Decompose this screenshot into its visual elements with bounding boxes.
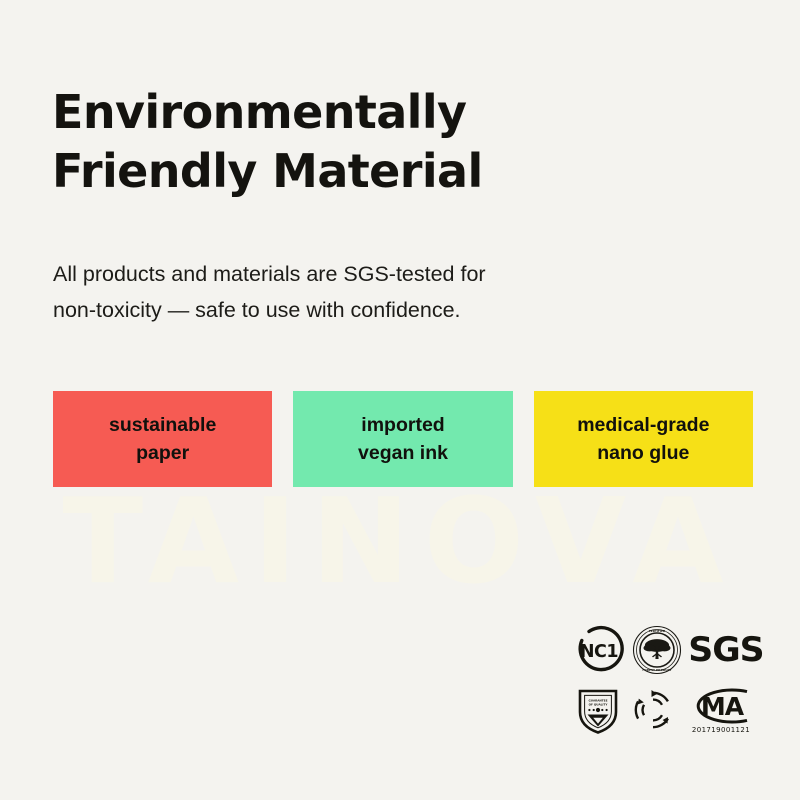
page-title: Environmentally Friendly Material xyxy=(52,83,752,201)
cma-icon: MA 201719001121 xyxy=(685,686,757,734)
page-subtitle: All products and materials are SGS-teste… xyxy=(53,256,673,330)
page-subtitle-line-2: non-toxicity — safe to use with confiden… xyxy=(53,292,673,329)
material-tag-line-2: nano glue xyxy=(597,439,689,467)
material-tag-list: sustainable paper imported vegan ink med… xyxy=(53,391,753,487)
shield-icon: GUARANTEE OF QUALITY xyxy=(575,685,621,735)
material-tag-line-2: vegan ink xyxy=(358,439,448,467)
material-tag-imported-vegan-ink: imported vegan ink xyxy=(293,391,512,487)
certification-badge-row-1: NC1 xyxy=(575,620,775,680)
material-tag-medical-grade-nano-glue: medical-grade nano glue xyxy=(534,391,753,487)
brand-watermark: TAINOVA xyxy=(0,482,800,600)
page-subtitle-line-1: All products and materials are SGS-teste… xyxy=(53,256,673,293)
page-title-line-2: Friendly Material xyxy=(52,142,752,201)
cma-code-label: 201719001121 xyxy=(692,727,750,734)
page-title-line-1: Environmentally xyxy=(52,83,752,142)
material-info-card: TAINOVA Environmentally Friendly Materia… xyxy=(0,0,800,800)
svg-text:OF QUALITY: OF QUALITY xyxy=(589,703,609,707)
tree-seal-icon: CERTIFIED FOREST PRODUCT xyxy=(631,624,683,676)
material-tag-line-2: paper xyxy=(136,439,189,467)
certification-badge-row-2: GUARANTEE OF QUALITY xyxy=(575,680,775,740)
material-tag-line-1: imported xyxy=(361,411,444,439)
svg-text:CERTIFIED: CERTIFIED xyxy=(649,629,666,633)
certification-badge-group: NC1 xyxy=(575,620,775,740)
recycling-icon xyxy=(629,686,677,734)
material-tag-sustainable-paper: sustainable paper xyxy=(53,391,272,487)
nc1-icon: NC1 xyxy=(575,625,625,675)
material-tag-line-1: sustainable xyxy=(109,411,216,439)
sgs-icon: SGS xyxy=(689,633,763,667)
svg-text:MA: MA xyxy=(701,692,745,721)
svg-text:NC1: NC1 xyxy=(580,642,618,662)
svg-text:FOREST PRODUCT: FOREST PRODUCT xyxy=(642,668,671,672)
material-tag-line-1: medical-grade xyxy=(577,411,709,439)
sgs-label: SGS xyxy=(688,633,763,667)
